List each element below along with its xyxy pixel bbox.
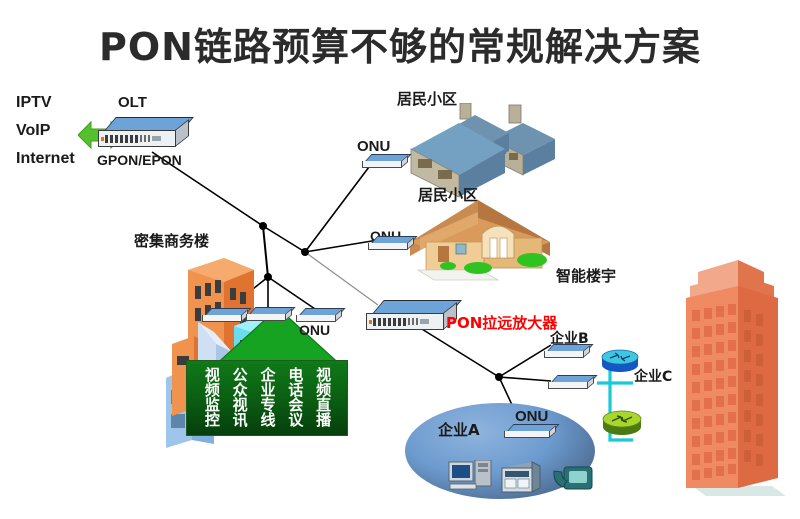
onu-business-2[interactable] — [246, 307, 292, 323]
splitter-node-trunk — [259, 222, 267, 230]
link-split2-onu-res-top — [305, 163, 372, 252]
service-label-iptv: IPTV — [16, 94, 52, 112]
olt-tech-label: GPON/EPON — [97, 152, 182, 168]
onu-front-face — [544, 351, 584, 358]
onu-front-face — [504, 431, 550, 438]
services-banner: 视频直播 电话会议 企业专线 公众视讯 视频监控 — [186, 360, 348, 436]
olt-port-bank-2 — [140, 135, 151, 142]
onu-enterprise-c[interactable] — [548, 375, 594, 391]
switch-icon[interactable] — [601, 408, 643, 436]
pon-amplifier-label: PON拉远放大器 — [446, 312, 557, 333]
service-item-1: 电话会议 — [287, 367, 302, 427]
olt-front-panel — [98, 130, 176, 147]
olt-status-led — [101, 137, 104, 141]
onu-front-face — [548, 382, 588, 389]
onu-front-face — [246, 314, 286, 321]
onu-business-1[interactable] — [202, 308, 248, 324]
pon-amplifier-device[interactable] — [366, 300, 458, 336]
network-diagram-canvas: PON链路预算不够的常规解决方案 — [0, 0, 800, 519]
olt-module-slot — [152, 136, 161, 141]
onu-residential-mid[interactable] — [368, 236, 414, 252]
desktop-computer-icon[interactable] — [448, 460, 496, 496]
service-label-voip: VoIP — [16, 122, 50, 140]
onu-front-face — [362, 161, 402, 168]
office-tower-illustration — [672, 258, 792, 508]
olt-port-bank — [105, 135, 139, 143]
server-box-icon[interactable] — [500, 460, 542, 496]
onu-front-face — [368, 243, 408, 250]
service-item-3: 公众视讯 — [232, 367, 247, 427]
onu-residential-top[interactable] — [362, 154, 408, 170]
enterprise-a-label: 企业A — [438, 419, 480, 440]
onu-label-business: ONU — [299, 322, 330, 338]
olt-label: OLT — [118, 94, 147, 111]
service-label-internet: Internet — [16, 150, 75, 168]
amplifier-status-led — [369, 320, 372, 324]
splitter-node-enterprise — [495, 373, 503, 381]
onu-enterprise-b[interactable] — [544, 344, 590, 360]
olt-device[interactable] — [98, 117, 190, 153]
amplifier-port-bank-2 — [408, 318, 419, 325]
amplifier-port-bank — [373, 318, 407, 326]
link-split3-onu-c — [499, 377, 551, 381]
onu-label-residential-top: ONU — [357, 138, 390, 155]
zone-label-smart-building: 智能楼宇 — [556, 265, 616, 286]
service-item-0: 视频直播 — [315, 367, 330, 427]
desk-phone-icon[interactable] — [552, 461, 596, 495]
smart-house-illustration — [400, 198, 560, 283]
onu-enterprise-a[interactable] — [504, 424, 556, 440]
service-item-4: 视频监控 — [204, 367, 219, 427]
onu-label-enterprise-a: ONU — [515, 408, 548, 425]
service-item-2: 企业专线 — [259, 367, 274, 427]
onu-front-face — [202, 315, 242, 322]
enterprise-c-label: 企业C — [634, 366, 672, 386]
amplifier-module-slot — [420, 319, 429, 324]
onu-front-face — [296, 315, 336, 322]
amplifier-front-panel — [366, 313, 444, 330]
